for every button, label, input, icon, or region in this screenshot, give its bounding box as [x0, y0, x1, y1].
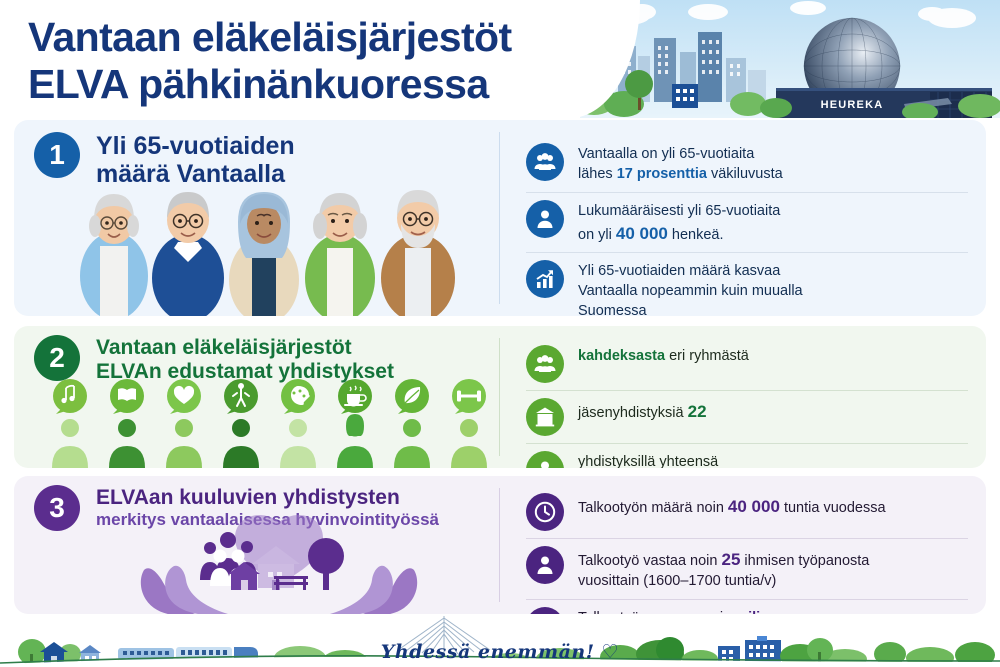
- single-person-icon: [526, 451, 564, 468]
- section-card-1: 1 Yli 65-vuotiaiden määrä Vantaalla: [14, 120, 986, 316]
- section-card-2: 2 Vantaan eläkeläisjärjestöt ELVAn edust…: [14, 326, 986, 468]
- music-note-icon: [53, 379, 87, 414]
- single-person-icon: [526, 200, 564, 238]
- section-badge-1: 1: [34, 132, 80, 178]
- bullet-text: yhdistyksillä yhteensäyli 4000 jäsentä: [578, 451, 718, 468]
- footer: Yhdessä enemmän! ♡: [0, 614, 1000, 667]
- bullet-text: jäsenyhdistyksiä 22: [578, 398, 707, 424]
- bullet-item: Talkootyön määrä noin 40 000 tuntia vuod…: [526, 486, 968, 538]
- growth-chart-icon: [526, 260, 564, 298]
- section-card-3: 3 ELVAan kuuluvien yhdistysten merkitys …: [14, 476, 986, 614]
- header: HEUREKA Vantaan eläkeläisjärjestöt ELVA …: [0, 0, 1000, 118]
- infographic-page: HEUREKA Vantaan eläkeläisjärjestöt ELVA …: [0, 0, 1000, 667]
- bullet-text: Lukumääräisesti yli 65-vuotiaitaon yli 4…: [578, 200, 780, 246]
- single-person-icon: [526, 546, 564, 584]
- footer-slogan: Yhdessä enemmän! ♡: [0, 641, 1000, 663]
- bullet-text: Vantaalla on yli 65-vuotiaitalähes 17 pr…: [578, 143, 783, 185]
- section-heading-1-line1: Yli 65-vuotiaiden: [96, 132, 295, 160]
- group-people-icon: [526, 345, 564, 383]
- title-line-2: ELVA pähkinänkuoressa: [28, 61, 512, 108]
- illustration-elderly-people: [68, 176, 488, 316]
- leaf-icon: [395, 379, 429, 414]
- illustration-hands-heart-community: [134, 514, 424, 614]
- card-2-divider: [499, 338, 500, 456]
- art-palette-icon: [281, 379, 315, 414]
- header-illustration-heureka: HEUREKA: [580, 0, 1000, 118]
- bullet-item: Yli 65-vuotiaiden määrä kasvaaVantaalla …: [526, 252, 968, 316]
- section-1-bullets: Vantaalla on yli 65-vuotiaitalähes 17 pr…: [526, 136, 968, 316]
- bullet-text: kahdeksasta eri ryhmästä: [578, 345, 749, 367]
- section-heading-3-line1: ELVAan kuuluvien yhdistysten: [96, 486, 439, 510]
- group-people-icon: [526, 143, 564, 181]
- bullet-text: Talkootyö vastaa noin 25 ihmisen työpano…: [578, 546, 869, 592]
- clock-icon: [526, 493, 564, 531]
- title-line-1: Vantaan eläkeläisjärjestöt: [28, 14, 512, 61]
- bullet-item: Lukumääräisesti yli 65-vuotiaitaon yli 4…: [526, 192, 968, 253]
- illustration-activity-groups: [42, 374, 492, 468]
- heart-icon: [167, 379, 201, 414]
- page-title: Vantaan eläkeläisjärjestöt ELVA pähkinän…: [28, 14, 512, 107]
- card-3-divider: [499, 488, 500, 602]
- bullet-text: Yli 65-vuotiaiden määrä kasvaaVantaalla …: [578, 260, 803, 316]
- section-2-bullets: kahdeksasta eri ryhmästä jäsenyhdistyksi: [526, 338, 968, 468]
- bullet-item: Talkootyö vastaa noin 25 ihmisen työpano…: [526, 538, 968, 599]
- bullet-item: Talkootyön arvo on noin miljoona euroavu…: [526, 599, 968, 614]
- building-icon: [526, 398, 564, 436]
- bullet-text: Talkootyön määrä noin 40 000 tuntia vuod…: [578, 493, 886, 519]
- walking-person-icon: [224, 379, 258, 414]
- bullet-item: Vantaalla on yli 65-vuotiaitalähes 17 pr…: [526, 136, 968, 192]
- section-heading-2-line1: Vantaan eläkeläisjärjestöt: [96, 336, 394, 360]
- bullet-item: kahdeksasta eri ryhmästä: [526, 338, 968, 390]
- book-icon: [110, 379, 144, 414]
- bullet-item: yhdistyksillä yhteensäyli 4000 jäsentä: [526, 443, 968, 468]
- section-3-bullets: Talkootyön määrä noin 40 000 tuntia vuod…: [526, 486, 968, 614]
- dumbbell-icon: [452, 379, 486, 414]
- coffee-cup-icon: [338, 379, 372, 414]
- bullet-item: jäsenyhdistyksiä 22: [526, 390, 968, 443]
- card-1-divider: [499, 132, 500, 304]
- heureka-label: HEUREKA: [821, 99, 884, 111]
- euro-icon: [526, 607, 564, 614]
- bullet-text: Talkootyön arvo on noin miljoona euroavu…: [578, 607, 940, 614]
- section-badge-3: 3: [34, 485, 80, 531]
